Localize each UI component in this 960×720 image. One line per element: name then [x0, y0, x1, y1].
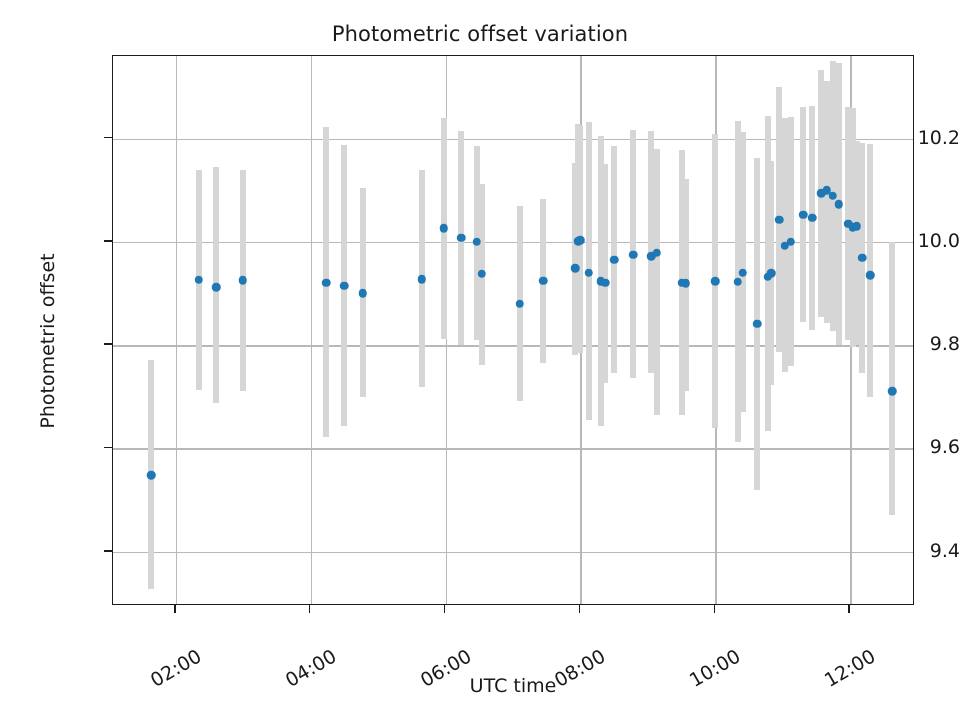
y-tick-mark: [104, 447, 112, 449]
datapoint: [853, 222, 862, 231]
datapoint: [866, 271, 875, 280]
datapoint: [472, 238, 481, 247]
datapoint: [439, 224, 448, 233]
y-tick-mark: [104, 343, 112, 345]
x-tick-mark: [174, 605, 176, 613]
datapoint: [835, 200, 844, 209]
datapoint: [775, 215, 784, 224]
datapoint: [610, 256, 619, 265]
datapoint: [571, 264, 580, 273]
gridline-horizontal: [113, 448, 913, 449]
y-tick-mark: [104, 240, 112, 242]
errorbar: [889, 242, 895, 515]
datapoint: [457, 234, 466, 243]
datapoint: [787, 238, 796, 247]
x-tick-mark: [444, 605, 446, 613]
datapoint: [212, 283, 221, 292]
datapoint: [478, 270, 487, 279]
datapoint: [629, 251, 638, 260]
gridline-horizontal: [113, 552, 913, 553]
datapoint: [652, 249, 661, 258]
gridline-vertical: [176, 56, 177, 604]
datapoint: [418, 275, 427, 284]
datapoint: [340, 282, 349, 291]
datapoint: [194, 275, 203, 284]
datapoint: [828, 192, 837, 201]
y-tick-mark: [104, 137, 112, 139]
errorbar: [654, 149, 660, 415]
x-tick-mark: [579, 605, 581, 613]
y-tick-mark: [104, 550, 112, 552]
errorbar: [602, 164, 608, 383]
y-axis-label: Photometric offset: [37, 121, 59, 561]
x-tick-mark: [714, 605, 716, 613]
datapoint: [584, 269, 593, 278]
datapoint: [515, 300, 524, 309]
datapoint: [733, 277, 742, 286]
datapoint: [681, 279, 690, 288]
datapoint: [753, 319, 762, 328]
x-tick-mark: [848, 605, 850, 613]
datapoint: [147, 471, 156, 480]
datapoint: [601, 278, 610, 287]
gridline-vertical: [311, 56, 312, 604]
datapoint: [739, 269, 748, 278]
x-axis-label: UTC time: [112, 675, 914, 697]
x-tick-mark: [309, 605, 311, 613]
datapoint: [711, 277, 720, 286]
datapoint: [799, 210, 808, 219]
datapoint: [322, 278, 331, 287]
chart-figure: Photometric offset variation Photometric…: [0, 0, 960, 720]
datapoint: [238, 276, 247, 285]
datapoint: [539, 276, 548, 285]
datapoint: [858, 254, 867, 263]
datapoint: [808, 213, 817, 222]
chart-title: Photometric offset variation: [0, 22, 960, 46]
datapoint: [576, 236, 585, 245]
plot-area: [112, 55, 914, 605]
datapoint: [358, 289, 367, 298]
datapoint: [767, 269, 776, 278]
datapoint: [888, 387, 897, 396]
